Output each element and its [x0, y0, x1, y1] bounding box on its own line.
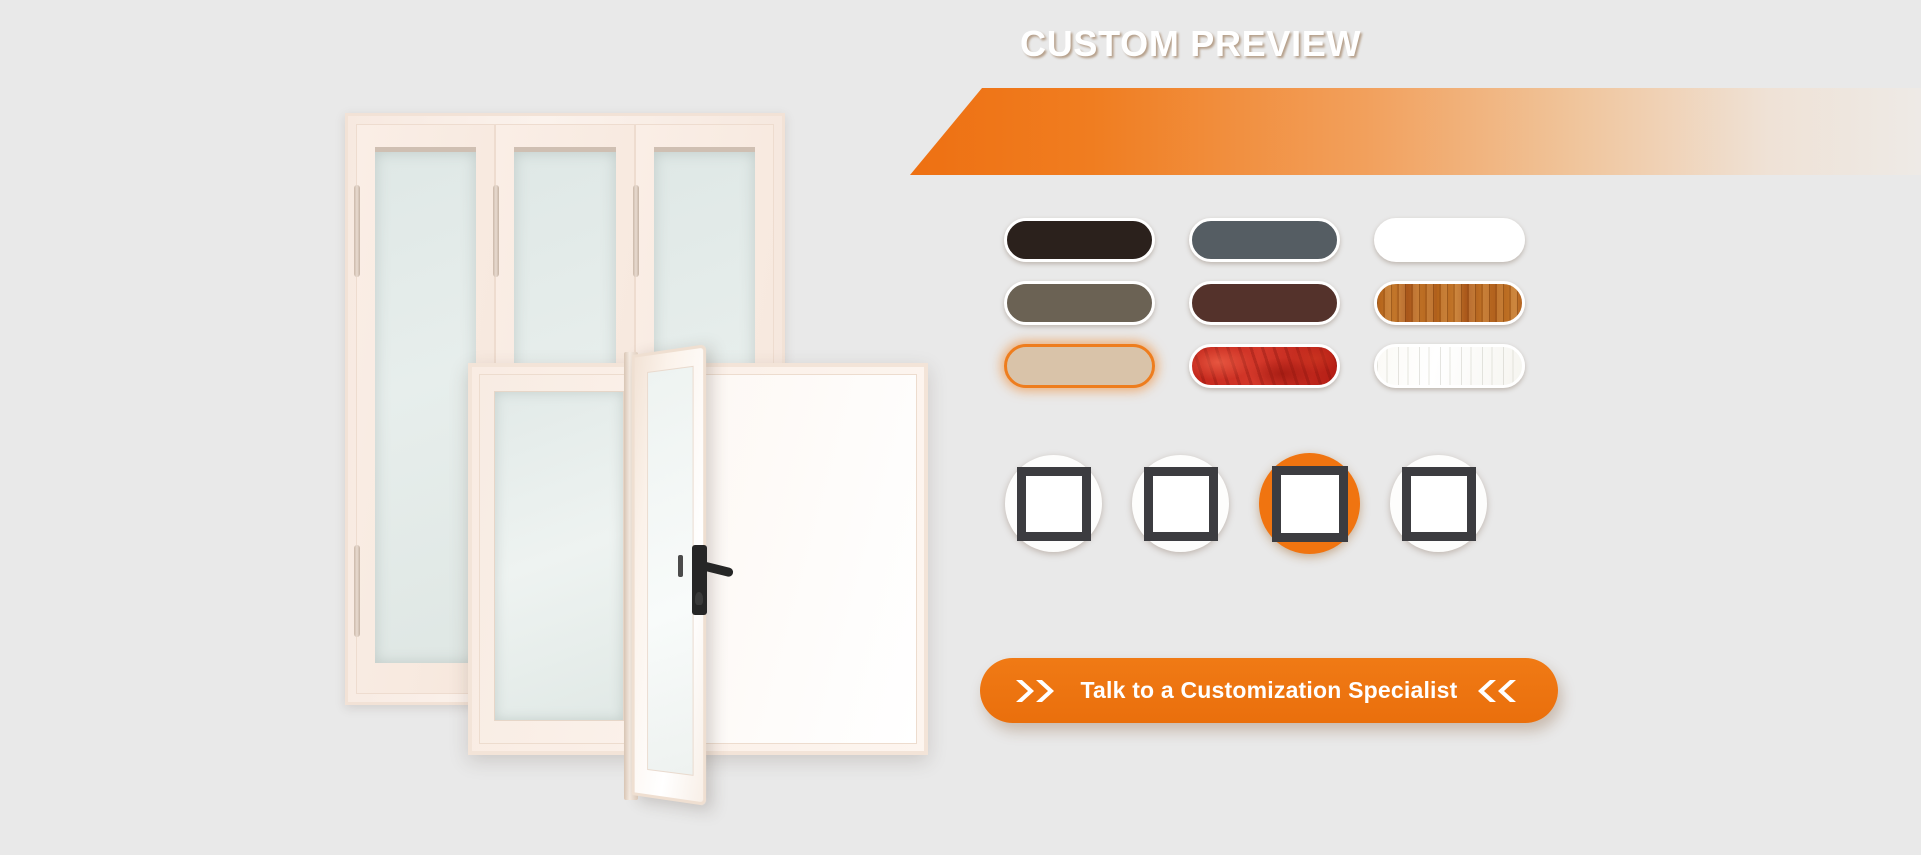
- hinge-icon: [633, 185, 639, 277]
- section-banner: [910, 88, 1921, 175]
- glass-option-ribbed-glass[interactable]: [1132, 455, 1229, 552]
- color-swatch-grid: [1004, 218, 1559, 407]
- glass-pane: [647, 366, 693, 776]
- glass-type-options: [1005, 455, 1487, 554]
- swatch-sand-beige[interactable]: [1004, 344, 1155, 388]
- window-frame-icon: [1272, 466, 1348, 542]
- custom-preview-banner: CUSTOM PREVIEW: [0, 0, 1921, 855]
- swatch-taupe-brown[interactable]: [1004, 281, 1155, 325]
- door-leaf-wide: [479, 374, 639, 744]
- hinge-icon: [354, 185, 360, 277]
- configurator-panel: CUSTOM PREVIEW: [915, 0, 1921, 855]
- window-frame-icon: [1017, 467, 1091, 541]
- glass-option-clear-glass[interactable]: [1005, 455, 1102, 552]
- swatch-dark-espresso[interactable]: [1004, 218, 1155, 262]
- page-title: CUSTOM PREVIEW: [1020, 0, 1361, 87]
- product-image: [0, 0, 980, 855]
- swatch-oxblood-maroon[interactable]: [1189, 281, 1340, 325]
- swatch-golden-oak-wood[interactable]: [1374, 281, 1525, 325]
- hinge-icon: [493, 185, 499, 277]
- swatch-pure-white[interactable]: [1374, 218, 1525, 262]
- double-chevron-left-icon: [1478, 678, 1524, 704]
- swatch-slate-grey[interactable]: [1189, 218, 1340, 262]
- hinge-icon: [354, 545, 360, 637]
- strike-plate: [678, 555, 683, 577]
- glass-pane: [375, 147, 476, 663]
- glass-option-textured-glass[interactable]: [1390, 455, 1487, 552]
- keyhole-icon: [695, 592, 703, 605]
- talk-to-specialist-button[interactable]: Talk to a Customization Specialist: [980, 658, 1558, 723]
- swatch-red-marble[interactable]: [1189, 344, 1340, 388]
- swatch-white-wash-wood[interactable]: [1374, 344, 1525, 388]
- glass-option-frosted-white[interactable]: [1259, 453, 1360, 554]
- cta-label: Talk to a Customization Specialist: [1080, 677, 1457, 704]
- glass-pane: [494, 391, 624, 721]
- window-frame-icon: [1144, 467, 1218, 541]
- door-leaf-blank: [699, 374, 917, 744]
- window-frame-icon: [1402, 467, 1476, 541]
- double-chevron-right-icon: [1014, 678, 1060, 704]
